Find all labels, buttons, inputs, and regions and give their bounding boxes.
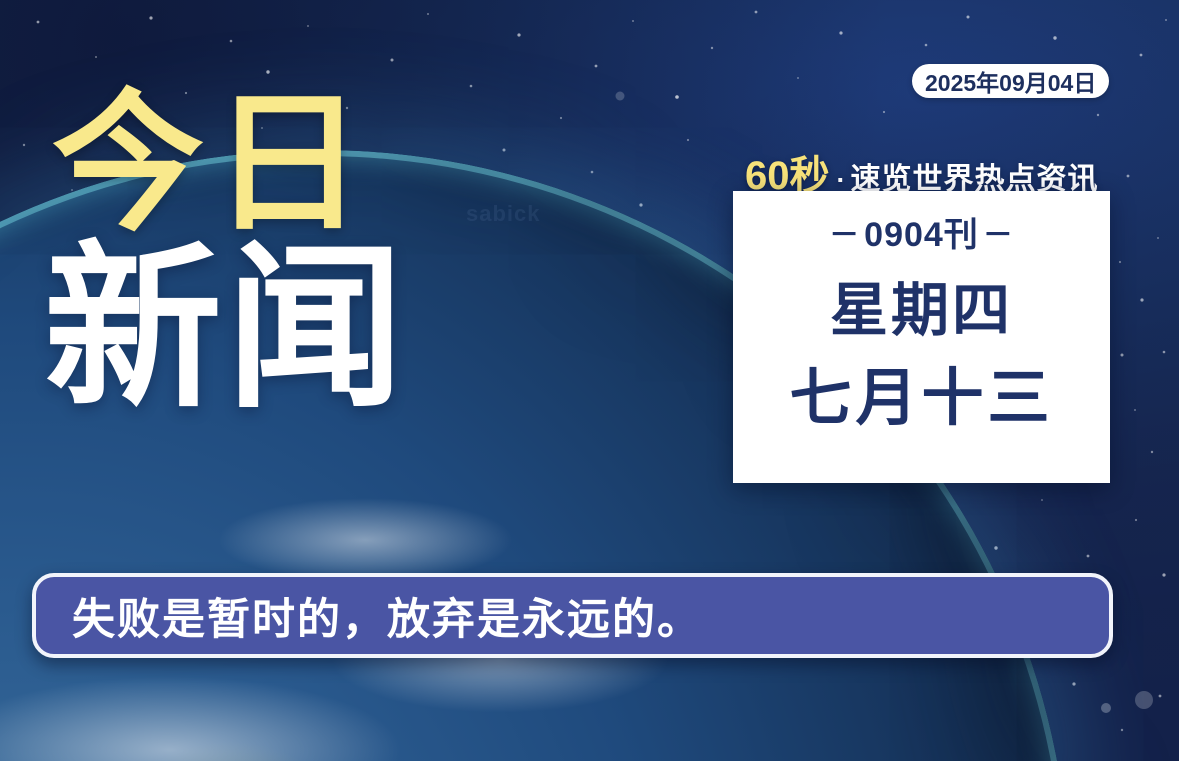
quote-text: 失败是暂时的，放弃是永远的。 xyxy=(72,585,702,647)
info-card: － 0904刊 － 星期四 七月十三 xyxy=(733,191,1110,483)
issue-line: － 0904刊 － xyxy=(829,207,1014,256)
page-title: 今日 新闻 xyxy=(52,92,408,415)
date-badge: 2025年09月04日 xyxy=(912,64,1109,98)
issue-dash-left: － xyxy=(829,210,860,254)
quote-banner: 失败是暂时的，放弃是永远的。 xyxy=(32,573,1113,658)
issue-dash-right: － xyxy=(983,210,1014,254)
issue-number: 0904刊 xyxy=(864,207,979,256)
news-poster: sabick 今日 新闻 2025年09月04日 60秒 · 速览世界热点资讯 … xyxy=(0,0,1179,761)
weekday-label: 星期四 xyxy=(830,282,1013,340)
lunar-date-label: 七月十三 xyxy=(789,368,1053,430)
watermark-text: sabick xyxy=(466,201,541,227)
headline-line-2: 新闻 xyxy=(44,244,408,415)
headline-line-1: 今日 xyxy=(52,92,408,238)
